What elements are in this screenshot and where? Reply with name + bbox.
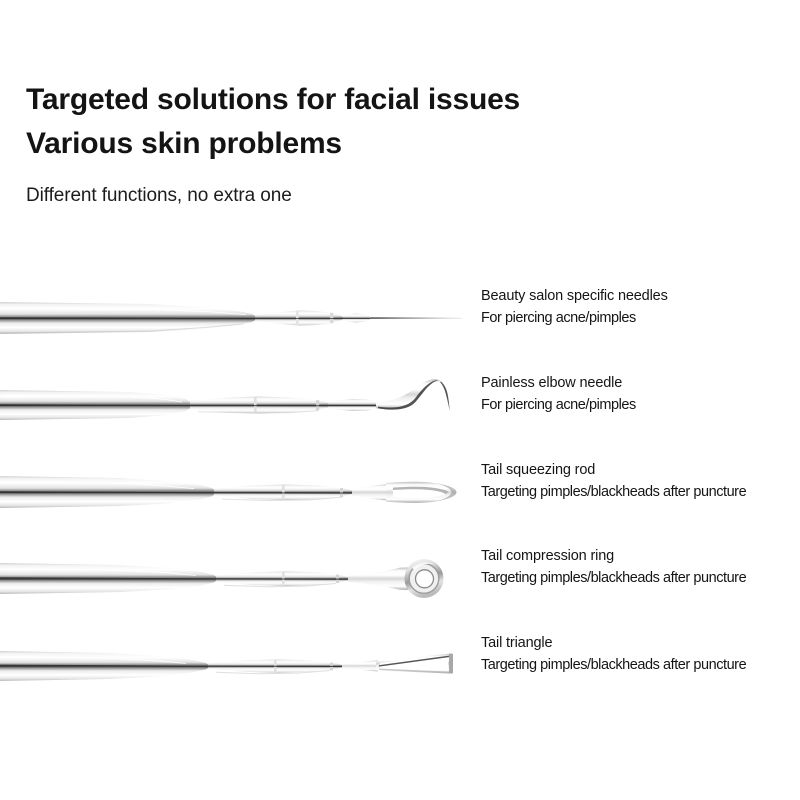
tool-subtitle: For piercing acne/pimples xyxy=(481,394,799,416)
headline-line-1: Targeted solutions for facial issues xyxy=(26,78,766,122)
tool-caption: Tail squeezing rod Targeting pimples/bla… xyxy=(481,459,799,503)
tool-subtitle: For piercing acne/pimples xyxy=(481,307,799,329)
tool-row: Tail compression ring Targeting pimples/… xyxy=(0,534,800,622)
tool-row: Beauty salon specific needles For pierci… xyxy=(0,274,800,362)
tool-title: Tail squeezing rod xyxy=(481,459,799,481)
fine-straight-needle-icon xyxy=(0,274,480,362)
teardrop-loop-icon xyxy=(0,448,480,536)
tool-title: Tail compression ring xyxy=(481,545,799,567)
tool-caption: Tail compression ring Targeting pimples/… xyxy=(481,545,799,589)
subtitle: Different functions, no extra one xyxy=(26,165,766,210)
tool-caption: Tail triangle Targeting pimples/blackhea… xyxy=(481,632,799,676)
heading-block: Targeted solutions for facial issues Var… xyxy=(26,78,766,210)
tool-title: Tail triangle xyxy=(481,632,799,654)
circular-ring-icon xyxy=(0,534,480,622)
curved-hook-needle-icon xyxy=(0,361,480,449)
tool-row: Painless elbow needle For piercing acne/… xyxy=(0,361,800,449)
tool-subtitle: Targeting pimples/blackheads after punct… xyxy=(481,481,799,503)
tool-title: Painless elbow needle xyxy=(481,372,799,394)
headline-line-2: Various skin problems xyxy=(26,122,766,166)
tool-subtitle: Targeting pimples/blackheads after punct… xyxy=(481,654,799,676)
tool-row: Tail triangle Targeting pimples/blackhea… xyxy=(0,621,800,709)
tool-title: Beauty salon specific needles xyxy=(481,285,799,307)
flat-triangle-blade-icon xyxy=(0,621,480,709)
tool-caption: Beauty salon specific needles For pierci… xyxy=(481,285,799,329)
tool-caption: Painless elbow needle For piercing acne/… xyxy=(481,372,799,416)
tool-row: Tail squeezing rod Targeting pimples/bla… xyxy=(0,448,800,536)
tool-subtitle: Targeting pimples/blackheads after punct… xyxy=(481,567,799,589)
